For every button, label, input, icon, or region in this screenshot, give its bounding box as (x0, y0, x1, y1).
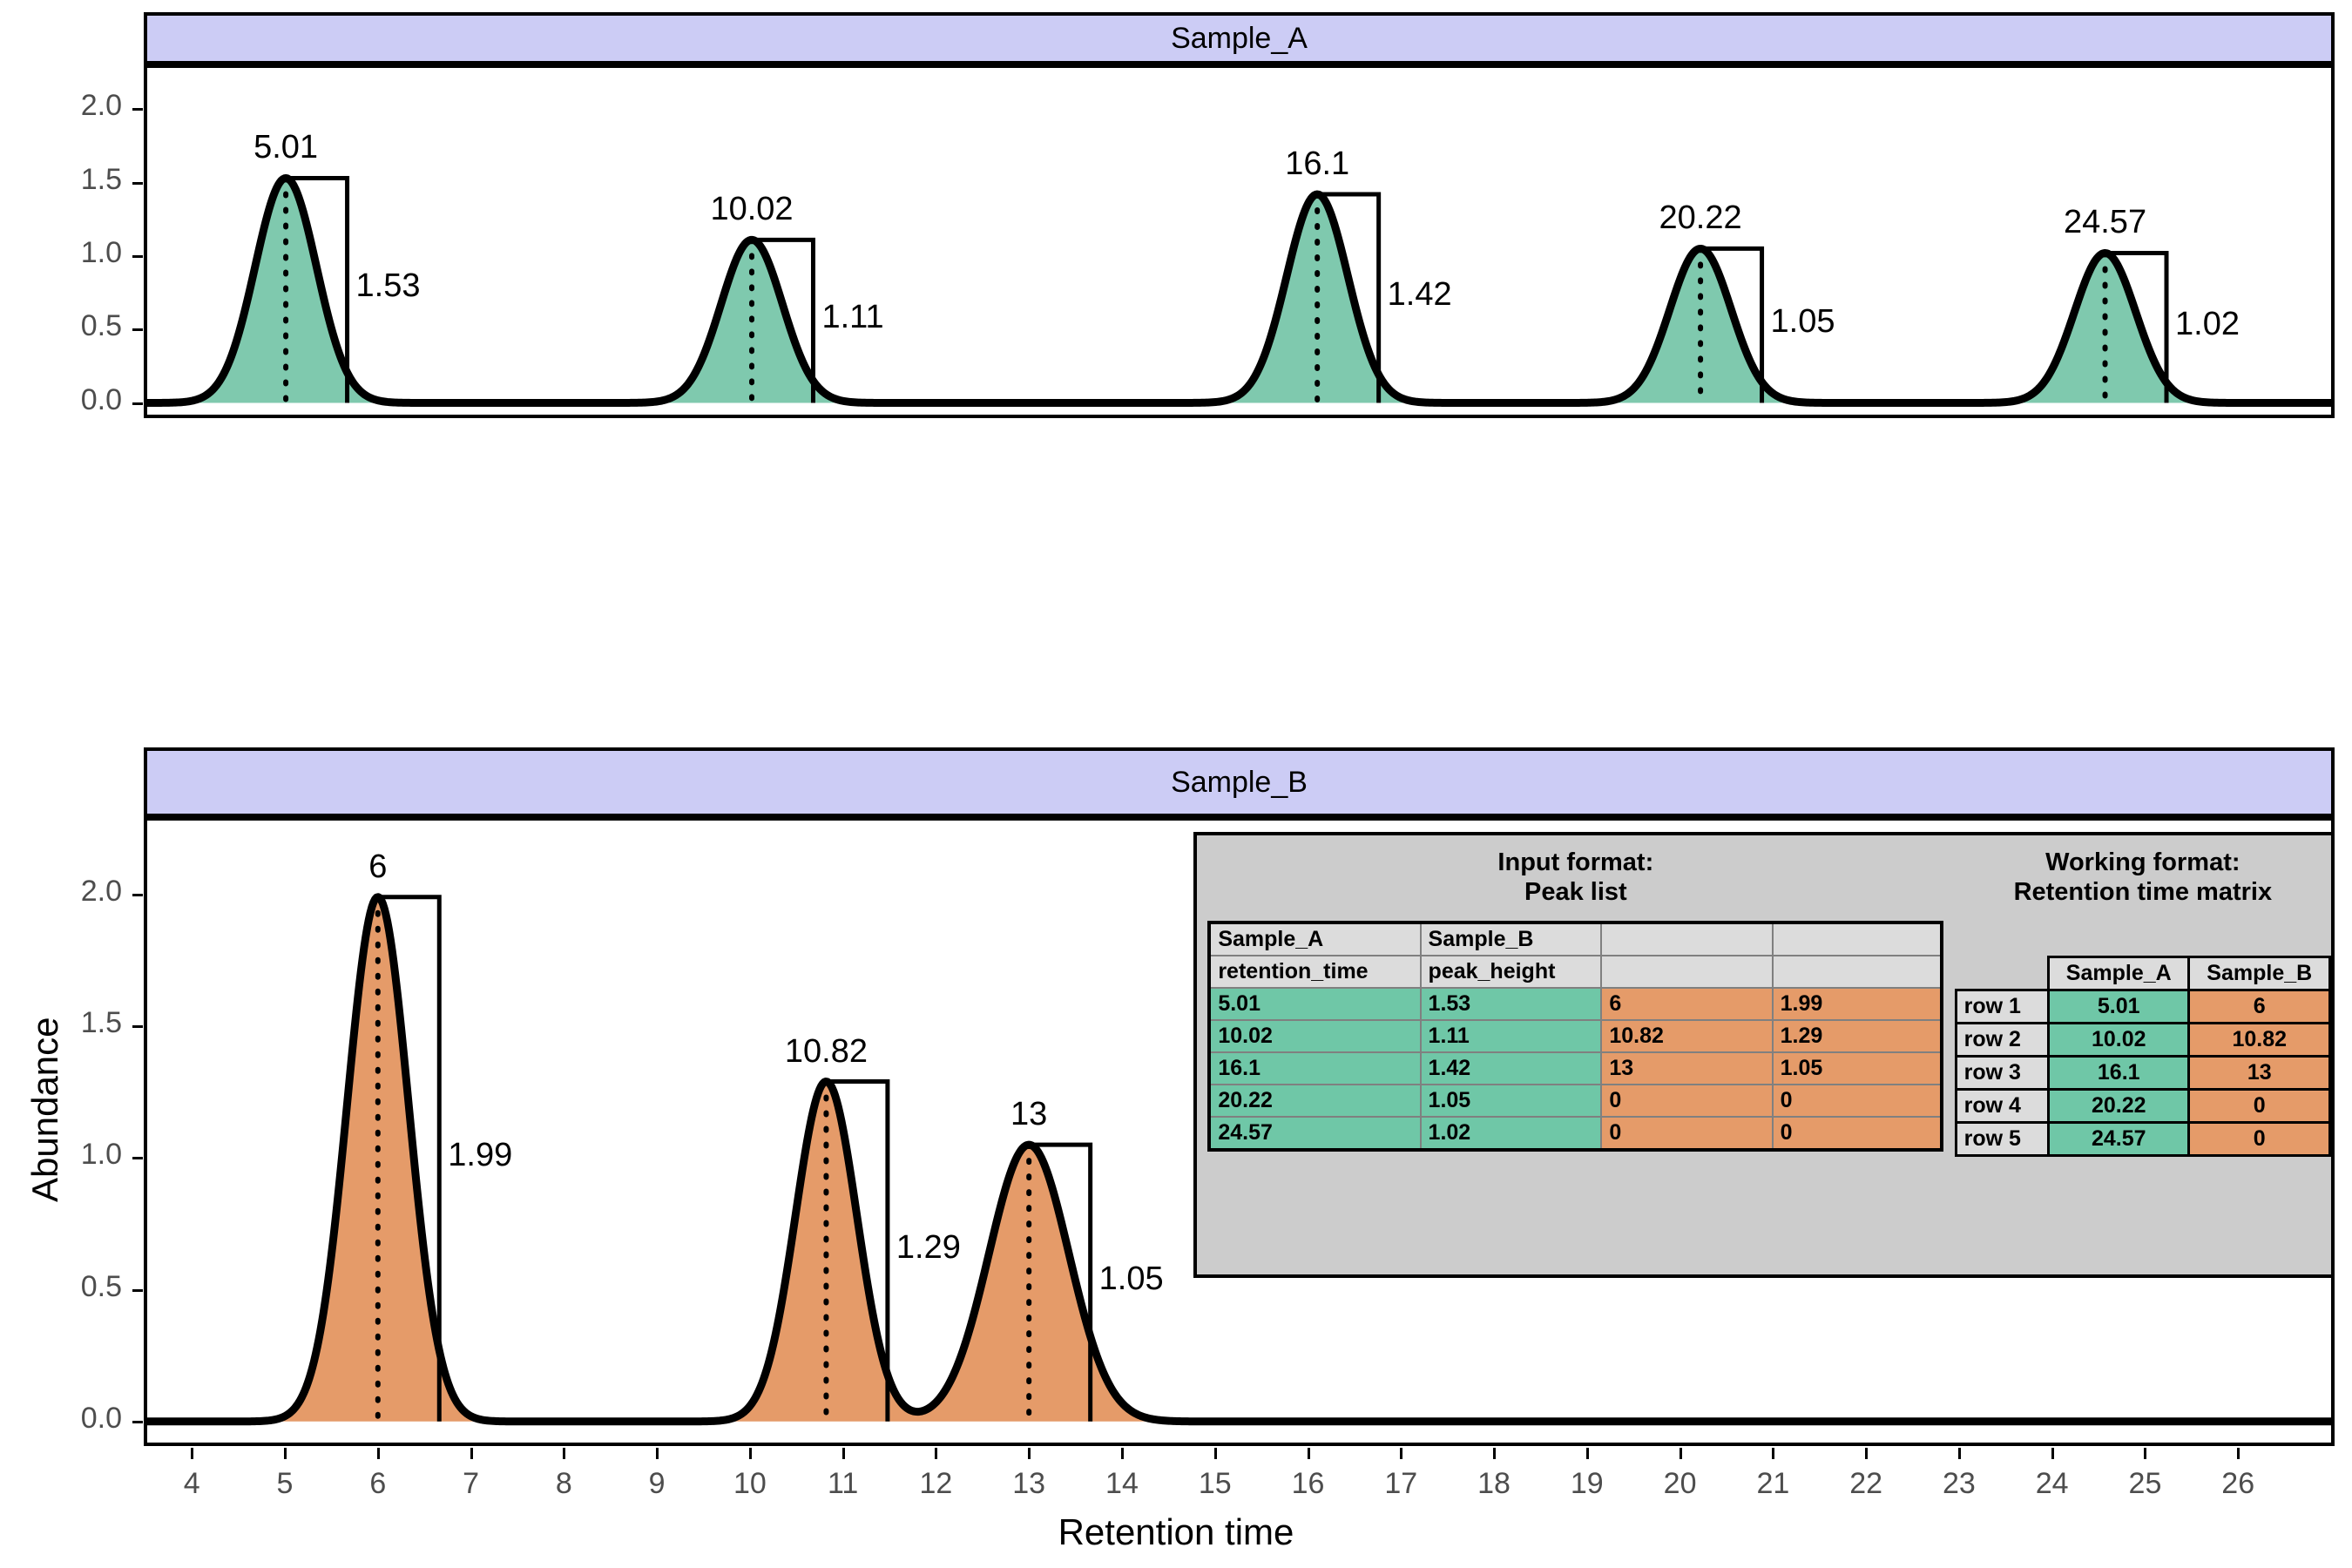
table-row: row 15.016 (1956, 990, 2329, 1024)
table-row: 5.011.5361.99 (1209, 988, 1942, 1020)
x-axis-tick-mark (1214, 1448, 1217, 1459)
table-cell: 24.57 (2049, 1123, 2189, 1156)
table-cell: 1.99 (1773, 988, 1943, 1020)
x-axis-tick-mark (2237, 1448, 2240, 1459)
peak-retention-time-label: 10.02 (710, 191, 793, 228)
table-cell: 0 (1773, 1117, 1943, 1150)
table-cell: retention_time (1209, 956, 1420, 988)
x-axis-tick-label: 15 (1172, 1467, 1259, 1501)
table-row: 20.221.0500 (1209, 1085, 1942, 1117)
table-cell (1601, 956, 1772, 988)
table-cell: 24.57 (1209, 1117, 1420, 1150)
working-format-title-line2: Retention time matrix (2014, 878, 2273, 906)
x-axis-tick-label: 5 (241, 1467, 328, 1501)
y-axis-tick-label: 0.5 (0, 1270, 122, 1304)
y-axis-tick-label: 2.0 (0, 89, 122, 123)
y-axis-tick-mark (132, 1421, 143, 1423)
format-inset-panel: Input format: Peak list Sample_ASample_B… (1193, 832, 2335, 1278)
x-axis-tick-label: 17 (1357, 1467, 1444, 1501)
table-cell: 0 (1773, 1085, 1943, 1117)
table-cell: row 3 (1956, 1057, 2048, 1090)
x-axis-tick-label: 14 (1078, 1467, 1166, 1501)
x-axis-tick-mark (563, 1448, 565, 1459)
input-format-block: Input format: Peak list Sample_ASample_B… (1197, 835, 1955, 1274)
table-cell: row 4 (1956, 1090, 2048, 1123)
x-axis-tick-mark (284, 1448, 287, 1459)
peak-height-label: 1.99 (448, 1137, 512, 1174)
x-axis-tick-mark (470, 1448, 473, 1459)
y-axis-tick-label: 0.0 (0, 1402, 122, 1436)
table-row: row 524.570 (1956, 1123, 2329, 1156)
x-axis-tick-label: 18 (1450, 1467, 1538, 1501)
x-axis-tick-label: 16 (1265, 1467, 1352, 1501)
table-cell: 20.22 (2049, 1090, 2189, 1123)
chromatogram-trace (147, 178, 2331, 402)
x-axis-tick-label: 8 (520, 1467, 607, 1501)
table-row: 10.021.1110.821.29 (1209, 1020, 1942, 1052)
table-cell: 6 (2189, 990, 2330, 1024)
peak-retention-time-label: 13 (1010, 1096, 1047, 1133)
table-cell: Sample_B (1421, 923, 1602, 956)
table-cell: 5.01 (1209, 988, 1420, 1020)
table-cell: 1.11 (1421, 1020, 1602, 1052)
y-axis-tick-mark (132, 328, 143, 331)
x-axis-tick-label: 7 (428, 1467, 515, 1501)
y-axis-tick-mark (132, 1289, 143, 1292)
x-axis-tick-label: 12 (892, 1467, 979, 1501)
x-axis-tick-mark (1958, 1448, 1961, 1459)
peak-area-fill (147, 178, 2331, 402)
table-cell: 0 (2189, 1123, 2330, 1156)
peak-height-label: 1.53 (356, 267, 421, 305)
table-row: row 316.113 (1956, 1057, 2329, 1090)
panel-strip-label-sample-b: Sample_B (1171, 766, 1308, 800)
y-axis-tick-mark (132, 255, 143, 258)
table-cell: row 2 (1956, 1024, 2048, 1057)
table-header-row: Sample_ASample_B (1209, 923, 1942, 956)
y-axis-tick-mark (132, 108, 143, 111)
peak-list-table: Sample_ASample_Bretention_timepeak_heigh… (1207, 921, 1943, 1152)
table-cell: 1.29 (1773, 1020, 1943, 1052)
peak-retention-time-label: 24.57 (2064, 204, 2146, 241)
table-cell: 6 (1601, 988, 1772, 1020)
x-axis-tick-mark (656, 1448, 659, 1459)
peak-retention-time-label: 5.01 (253, 129, 318, 166)
x-axis-tick-label: 25 (2101, 1467, 2188, 1501)
table-cell: 10.02 (2049, 1024, 2189, 1057)
working-format-title-line1: Working format: (2045, 848, 2240, 876)
peak-retention-time-label: 6 (368, 848, 387, 886)
y-axis-tick-label: 2.0 (0, 875, 122, 909)
table-cell: Sample_A (2049, 957, 2189, 990)
y-axis-tick-mark (132, 1157, 143, 1159)
x-axis-tick-mark (1400, 1448, 1402, 1459)
table-cell: 10.82 (1601, 1020, 1772, 1052)
working-format-title: Working format: Retention time matrix (2014, 848, 2273, 907)
table-cell: 13 (1601, 1052, 1772, 1085)
table-cell: 16.1 (2049, 1057, 2189, 1090)
table-cell: 1.02 (1421, 1117, 1602, 1150)
y-axis-tick-label: 1.0 (0, 236, 122, 270)
x-axis-tick-mark (1028, 1448, 1031, 1459)
peak-retention-time-label: 20.22 (1659, 199, 1742, 237)
peak-retention-time-label: 10.82 (785, 1033, 868, 1071)
x-axis-tick-label: 23 (1916, 1467, 2003, 1501)
x-axis-tick-mark (1680, 1448, 1682, 1459)
table-cell (1773, 923, 1943, 956)
x-axis-tick-label: 24 (2009, 1467, 2096, 1501)
x-axis-tick-mark (191, 1448, 193, 1459)
table-cell: 0 (1601, 1117, 1772, 1150)
table-cell (1773, 956, 1943, 988)
x-axis-tick-mark (377, 1448, 380, 1459)
input-format-title: Input format: Peak list (1497, 848, 1653, 907)
y-axis-tick-label: 0.5 (0, 309, 122, 343)
x-axis-tick-label: 11 (800, 1467, 887, 1501)
peak-height-label: 1.02 (2175, 306, 2240, 343)
table-header-row: retention_timepeak_height (1209, 956, 1942, 988)
x-axis-tick-label: 6 (335, 1467, 422, 1501)
x-axis-tick-mark (1865, 1448, 1868, 1459)
table-cell: 1.05 (1773, 1052, 1943, 1085)
table-cell: 10.82 (2189, 1024, 2330, 1057)
retention-time-matrix-table: Sample_ASample_Brow 15.016row 210.0210.8… (1955, 956, 2331, 1157)
x-axis-tick-mark (2144, 1448, 2146, 1459)
x-axis-tick-mark (1493, 1448, 1496, 1459)
panel-strip-sample-a: Sample_A (144, 12, 2335, 64)
peak-height-label: 1.29 (896, 1229, 961, 1267)
peak-height-label: 1.05 (1771, 303, 1835, 341)
table-row: row 210.0210.82 (1956, 1024, 2329, 1057)
chart-panel-sample-a (144, 64, 2335, 418)
x-axis-tick-label: 20 (1637, 1467, 1724, 1501)
x-axis-tick-mark (842, 1448, 845, 1459)
table-cell: row 1 (1956, 990, 2048, 1024)
table-cell: 20.22 (1209, 1085, 1420, 1117)
x-axis-tick-label: 10 (706, 1467, 794, 1501)
table-header-row: Sample_ASample_B (1956, 957, 2329, 990)
panel-strip-label-sample-a: Sample_A (1171, 22, 1308, 56)
table-cell: 1.53 (1421, 988, 1602, 1020)
y-axis-title: Abundance (24, 1017, 66, 1202)
x-axis-title: Retention time (0, 1511, 2352, 1553)
x-axis-tick-mark (1121, 1448, 1124, 1459)
table-cell: 10.02 (1209, 1020, 1420, 1052)
y-axis-tick-mark (132, 182, 143, 185)
table-cell: 5.01 (2049, 990, 2189, 1024)
table-row: row 420.220 (1956, 1090, 2329, 1123)
y-axis-tick-mark (132, 1025, 143, 1028)
table-cell: Sample_B (2189, 957, 2330, 990)
table-row: 16.11.42131.05 (1209, 1052, 1942, 1085)
table-cell: 0 (2189, 1090, 2330, 1123)
x-axis-tick-mark (1772, 1448, 1774, 1459)
table-cell (1601, 923, 1772, 956)
y-axis-tick-label: 1.5 (0, 163, 122, 197)
x-axis-tick-label: 26 (2194, 1467, 2281, 1501)
table-cell: 16.1 (1209, 1052, 1420, 1085)
x-axis-tick-mark (1586, 1448, 1589, 1459)
table-cell: 1.42 (1421, 1052, 1602, 1085)
peak-height-label: 1.05 (1099, 1260, 1164, 1298)
x-axis-tick-mark (935, 1448, 937, 1459)
table-row: 24.571.0200 (1209, 1117, 1942, 1150)
table-cell: 13 (2189, 1057, 2330, 1090)
table-cell: 1.05 (1421, 1085, 1602, 1117)
x-axis-tick-mark (2051, 1448, 2054, 1459)
peak-retention-time-label: 16.1 (1285, 145, 1349, 183)
y-axis-tick-mark (132, 894, 143, 896)
x-axis-tick-label: 13 (985, 1467, 1072, 1501)
input-format-title-line1: Input format: (1497, 848, 1653, 876)
x-axis-tick-mark (1308, 1448, 1310, 1459)
table-cell: 0 (1601, 1085, 1772, 1117)
table-cell (1956, 957, 2048, 990)
x-axis-tick-label: 4 (148, 1467, 235, 1501)
table-cell: peak_height (1421, 956, 1602, 988)
working-format-block: Working format: Retention time matrix Sa… (1955, 835, 2331, 1274)
chromatogram-sample-a (147, 68, 2331, 415)
x-axis-tick-label: 22 (1822, 1467, 1909, 1501)
table-cell: Sample_A (1209, 923, 1420, 956)
y-axis-tick-label: 0.0 (0, 383, 122, 417)
peak-height-label: 1.42 (1388, 276, 1452, 314)
y-axis-tick-mark (132, 402, 143, 405)
table-cell: row 5 (1956, 1123, 2048, 1156)
x-axis-tick-label: 19 (1544, 1467, 1631, 1501)
input-format-title-line2: Peak list (1524, 878, 1627, 906)
x-axis-tick-mark (749, 1448, 752, 1459)
peak-height-label: 1.11 (821, 299, 883, 336)
panel-strip-sample-b: Sample_B (144, 747, 2335, 817)
figure-root: Sample_A Sample_B 4567891011121314151617… (0, 0, 2352, 1568)
x-axis-tick-label: 21 (1729, 1467, 1816, 1501)
x-axis-tick-label: 9 (613, 1467, 700, 1501)
